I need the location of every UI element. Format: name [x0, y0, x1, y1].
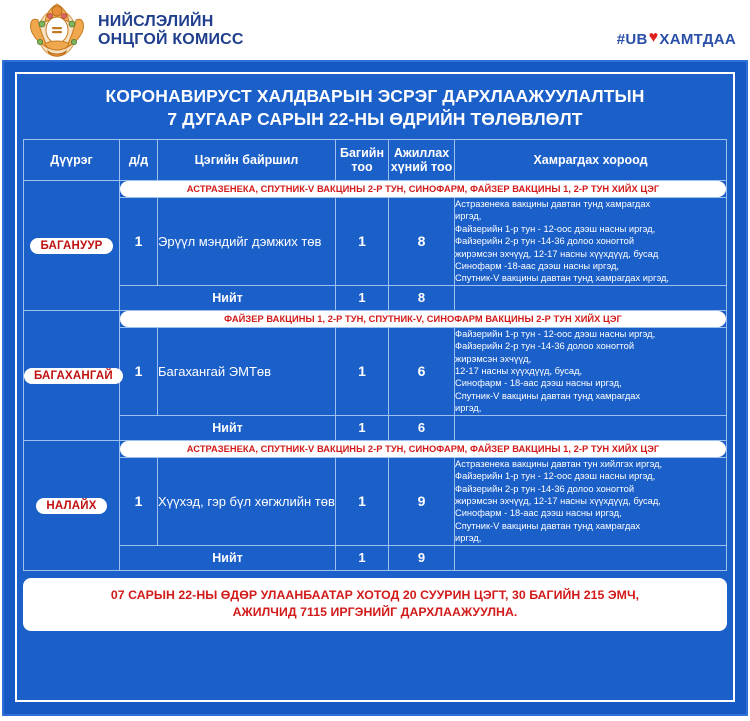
khoroo-line: Синофарм -18-аас дээш насны иргэд,	[455, 260, 726, 272]
total-khoroo-empty	[455, 415, 727, 440]
section-banner-row: НАЛАЙХ АСТРАЗЕНЕКА, СПУТНИК-V ВАКЦИНЫ 2-…	[24, 440, 727, 457]
col-header-staff-count: Ажиллах хүний тоо	[389, 140, 455, 181]
row-index: 1	[120, 327, 158, 415]
row-khoroo-details: Астразенека вакцины давтан тун хийлгэх и…	[455, 457, 727, 545]
row-khoroo-details: Астразенека вакцины давтан тунд хамрагда…	[455, 198, 727, 286]
row-team-count: 1	[336, 457, 389, 545]
district-cell: НАЛАЙХ	[24, 440, 120, 570]
page-title-line2: 7 ДУГААР САРЫН 22-НЫ ӨДРИЙН ТӨЛӨВЛӨЛТ	[27, 108, 723, 131]
organization-name-line2: ОНЦГОЙ КОМИСС	[98, 31, 244, 49]
total-khoroo-empty	[455, 285, 727, 310]
row-location: Багахангай ЭМТөв	[158, 327, 336, 415]
hashtag-prefix: #UB	[617, 31, 648, 48]
vaccine-banner: ФАЙЗЕР ВАКЦИНЫ 1, 2-Р ТУН, СПУТНИК-V, СИ…	[120, 311, 726, 327]
col-header-team-count: Багийн тоо	[336, 140, 389, 181]
row-index: 1	[120, 198, 158, 286]
hashtag-suffix: ХАМТДАА	[659, 31, 736, 48]
page-title-line1: КОРОНАВИРУСТ ХАЛДВАРЫН ЭСРЭГ ДАРХЛААЖУУЛ…	[27, 85, 723, 108]
khoroo-line: жирэмсэн эхчүүд, 12-17 насны хүүхдүүд, б…	[455, 495, 726, 507]
organization-name: НИЙСЛЭЛИЙН ОНЦГОЙ КОМИСС	[98, 13, 244, 49]
row-staff-count: 6	[389, 327, 455, 415]
summary-footer-line1: 07 САРЫН 22-НЫ ӨДӨР УЛААНБААТАР ХОТОД 20…	[33, 587, 717, 604]
khoroo-line: Астразенека вакцины давтан тун хийлгэх и…	[455, 458, 726, 470]
khoroo-line: 12-17 насны хүүхдүүд, бусад,	[455, 365, 726, 377]
heart-icon: ♥	[649, 29, 659, 47]
total-khoroo-empty	[455, 545, 727, 570]
vaccine-banner-cell: АСТРАЗЕНЕКА, СПУТНИК-V ВАКЦИНЫ 2-Р ТУН, …	[120, 440, 727, 457]
section-banner-row: БАГАХАНГАЙ ФАЙЗЕР ВАКЦИНЫ 1, 2-Р ТУН, СП…	[24, 310, 727, 327]
khoroo-line: Синофарм - 18-аас дээш насны иргэд,	[455, 507, 726, 519]
total-staff-count: 6	[389, 415, 455, 440]
table-body: БАГАНУУР АСТРАЗЕНЕКА, СПУТНИК-V ВАКЦИНЫ …	[24, 181, 727, 571]
table-row: 1 Эрүүл мэндийг дэмжих төв 1 8 Астразене…	[24, 198, 727, 286]
khoroo-line: Синофарм - 18-аас дээш насны иргэд,	[455, 377, 726, 389]
vaccination-schedule-table: Дүүрэг д/д Цэгийн байршил Багийн тоо Ажи…	[23, 139, 727, 571]
vaccine-banner-cell: АСТРАЗЕНЕКА, СПУТНИК-V ВАКЦИНЫ 2-Р ТУН, …	[120, 181, 727, 198]
khoroo-line: Файзерийн 2-р тун -14-36 долоо хоногтой	[455, 340, 726, 352]
col-header-staff-count-line2: хүний тоо	[389, 160, 454, 174]
col-header-team-count-line1: Багийн	[336, 146, 388, 160]
khoroo-line: Спутник-V вакцины давтан тунд хамрагдах	[455, 390, 726, 402]
section-banner-row: БАГАНУУР АСТРАЗЕНЕКА, СПУТНИК-V ВАКЦИНЫ …	[24, 181, 727, 198]
khoroo-line: Файзерийн 2-р тун -14-36 долоо хоногтой	[455, 483, 726, 495]
page-title: КОРОНАВИРУСТ ХАЛДВАРЫН ЭСРЭГ ДАРХЛААЖУУЛ…	[23, 78, 727, 139]
district-total-row: Нийт 1 9	[24, 545, 727, 570]
row-location: Эрүүл мэндийг дэмжих төв	[158, 198, 336, 286]
khoroo-line: Файзерийн 2-р тун -14-36 долоо хоногтой	[455, 235, 726, 247]
poster-inner-frame: КОРОНАВИРУСТ ХАЛДВАРЫН ЭСРЭГ ДАРХЛААЖУУЛ…	[15, 72, 735, 702]
district-cell: БАГАХАНГАЙ	[24, 310, 120, 440]
khoroo-line: Астразенека вакцины давтан тунд хамрагда…	[455, 198, 726, 210]
col-header-staff-count-line1: Ажиллах	[389, 146, 454, 160]
campaign-hashtag: #UB ♥ ХАМТДАА	[617, 30, 736, 48]
row-staff-count: 9	[389, 457, 455, 545]
district-cell: БАГАНУУР	[24, 181, 120, 311]
district-badge: БАГАНУУР	[30, 238, 112, 254]
total-team-count: 1	[336, 545, 389, 570]
table-row: 1 Хүүхэд, гэр бүл хөгжлийн төв 1 9 Астра…	[24, 457, 727, 545]
table-header-row: Дүүрэг д/д Цэгийн байршил Багийн тоо Ажи…	[24, 140, 727, 181]
total-team-count: 1	[336, 285, 389, 310]
total-staff-count: 9	[389, 545, 455, 570]
khoroo-line: Спутник-V вакцины давтан тунд хамрагдах	[455, 520, 726, 532]
total-label: Нийт	[120, 415, 336, 440]
khoroo-line: иргэд,	[455, 210, 726, 222]
row-team-count: 1	[336, 198, 389, 286]
total-label: Нийт	[120, 285, 336, 310]
summary-footer-line2: АЖИЛЧИД 7115 ИРГЭНИЙГ ДАРХЛААЖУУЛНА.	[33, 604, 717, 621]
district-total-row: Нийт 1 6	[24, 415, 727, 440]
row-staff-count: 8	[389, 198, 455, 286]
row-khoroo-details: Файзерийн 1-р тун - 12-оос дээш насны ир…	[455, 327, 727, 415]
vaccine-banner-cell: ФАЙЗЕР ВАКЦИНЫ 1, 2-Р ТУН, СПУТНИК-V, СИ…	[120, 310, 727, 327]
khoroo-line: Файзерийн 1-р тун - 12-оос дээш насны ир…	[455, 470, 726, 482]
khoroo-line: Спутник-V вакцины давтан тунд хамрагдах …	[455, 272, 726, 284]
col-header-index: д/д	[120, 140, 158, 181]
khoroo-line: жирэмсэн эхчүүд,	[455, 353, 726, 365]
district-badge: БАГАХАНГАЙ	[24, 368, 123, 384]
khoroo-line: жирэмсэн эхчүүд, 12-17 насны хүүхдүүд, б…	[455, 248, 726, 260]
table-row: 1 Багахангай ЭМТөв 1 6 Файзерийн 1-р тун…	[24, 327, 727, 415]
col-header-district: Дүүрэг	[24, 140, 120, 181]
district-total-row: Нийт 1 8	[24, 285, 727, 310]
total-staff-count: 8	[389, 285, 455, 310]
poster-frame: КОРОНАВИРУСТ ХАЛДВАРЫН ЭСРЭГ ДАРХЛААЖУУЛ…	[4, 62, 746, 714]
organization-name-line1: НИЙСЛЭЛИЙН	[98, 13, 244, 31]
khoroo-line: Файзерийн 1-р тун - 12-оос дээш насны ир…	[455, 223, 726, 235]
row-location: Хүүхэд, гэр бүл хөгжлийн төв	[158, 457, 336, 545]
mongolia-state-emblem-icon	[26, 2, 88, 60]
vaccine-banner: АСТРАЗЕНЕКА, СПУТНИК-V ВАКЦИНЫ 2-Р ТУН, …	[120, 181, 726, 197]
col-header-location: Цэгийн байршил	[158, 140, 336, 181]
total-team-count: 1	[336, 415, 389, 440]
total-label: Нийт	[120, 545, 336, 570]
vaccine-banner: АСТРАЗЕНЕКА, СПУТНИК-V ВАКЦИНЫ 2-Р ТУН, …	[120, 441, 726, 457]
district-badge: НАЛАЙХ	[36, 498, 106, 514]
row-index: 1	[120, 457, 158, 545]
col-header-team-count-line2: тоо	[336, 160, 388, 174]
khoroo-line: иргэд,	[455, 532, 726, 544]
page-header: НИЙСЛЭЛИЙН ОНЦГОЙ КОМИСС #UB ♥ ХАМТДАА	[0, 0, 750, 62]
khoroo-line: Файзерийн 1-р тун - 12-оос дээш насны ир…	[455, 328, 726, 340]
khoroo-line: иргэд,	[455, 402, 726, 414]
col-header-khoroo: Хамрагдах хороод	[455, 140, 727, 181]
table-header: Дүүрэг д/д Цэгийн байршил Багийн тоо Ажи…	[24, 140, 727, 181]
summary-footer: 07 САРЫН 22-НЫ ӨДӨР УЛААНБААТАР ХОТОД 20…	[23, 578, 727, 631]
row-team-count: 1	[336, 327, 389, 415]
